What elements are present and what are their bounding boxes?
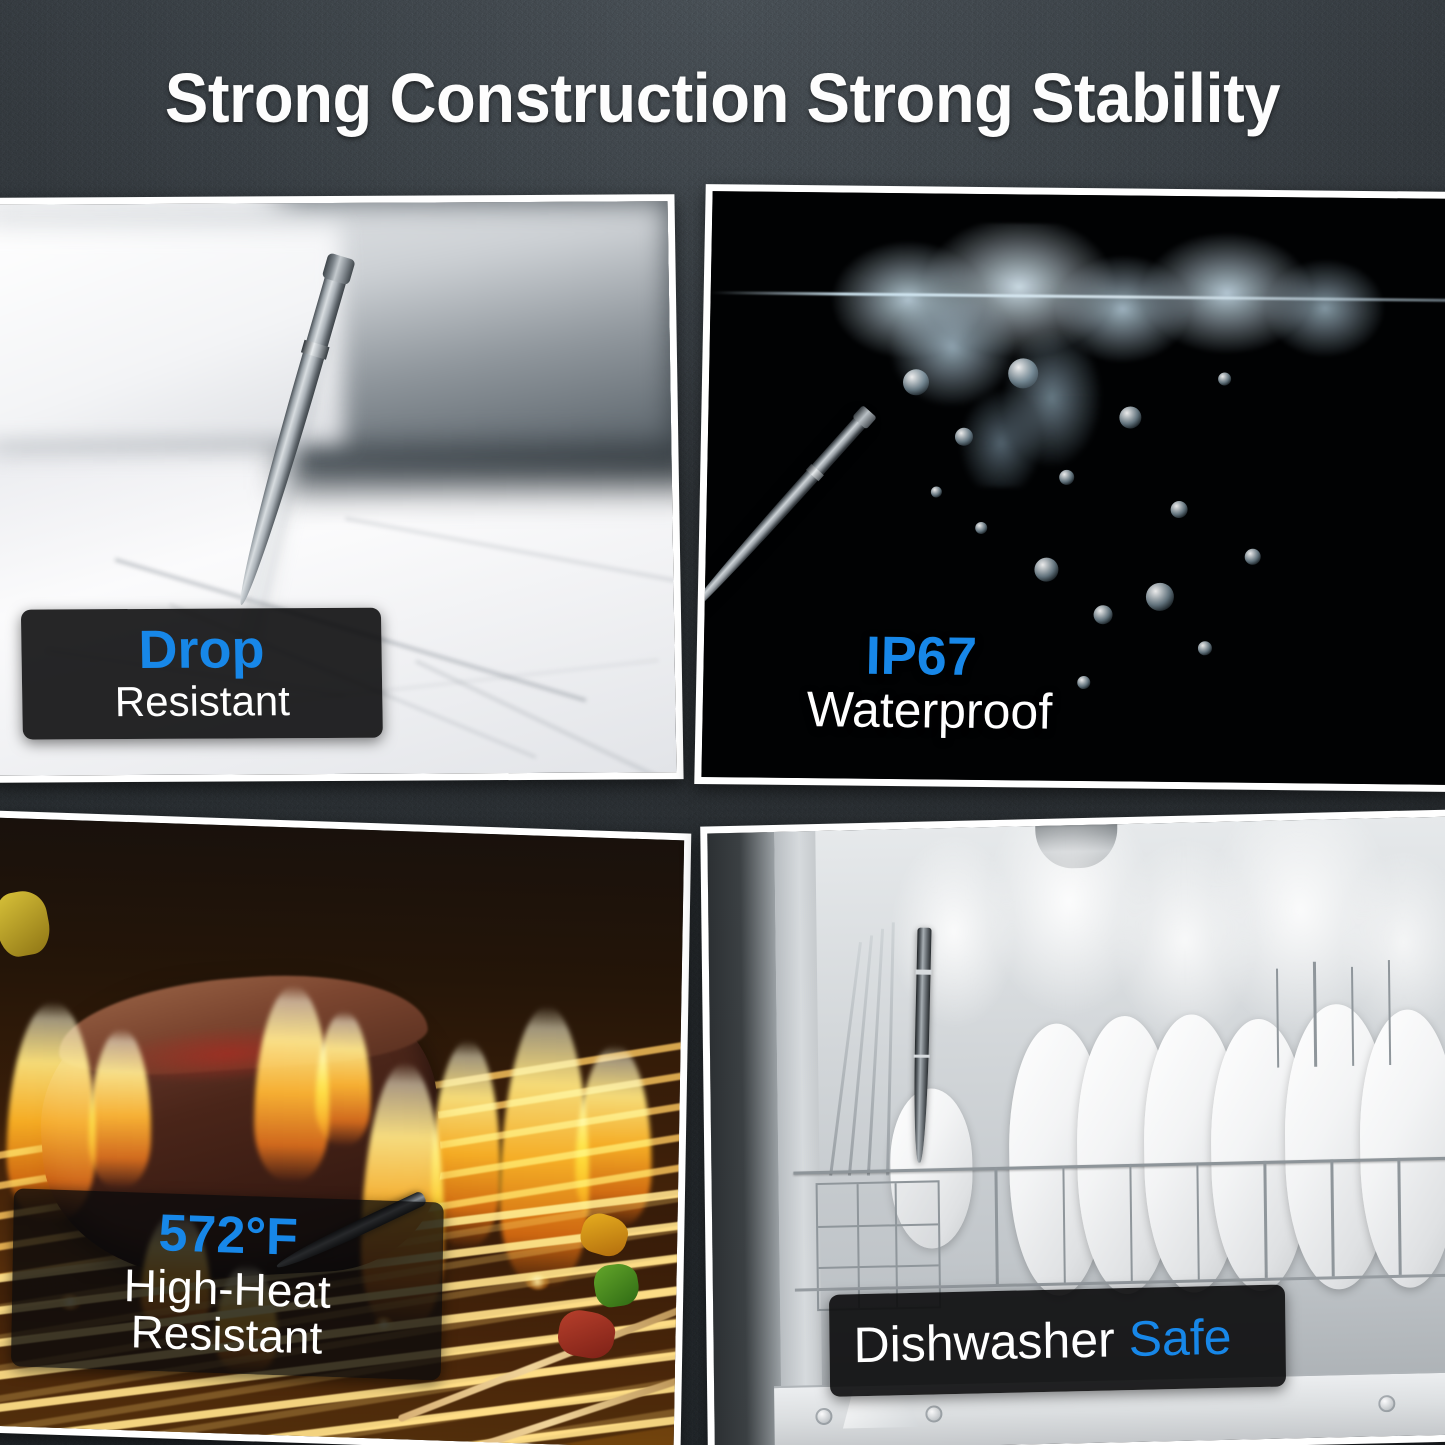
- basket-bar: [819, 1223, 938, 1228]
- bubble-icon: [1218, 372, 1231, 385]
- cutlery-basket: [816, 1181, 941, 1311]
- screw-icon: [815, 1408, 832, 1425]
- panel-drop-photo: Drop Resistant: [0, 201, 676, 775]
- badge-dishwasher-safe: Dishwasher Safe: [829, 1284, 1286, 1396]
- badge-dishwasher-text: Dishwasher Safe: [853, 1309, 1232, 1374]
- badge-drop-line1: Drop: [47, 622, 356, 678]
- badge-dishwasher-part2: Safe: [1128, 1309, 1232, 1367]
- screw-icon: [925, 1405, 942, 1422]
- bubble-icon: [1170, 501, 1187, 518]
- badge-drop-line2: Resistant: [48, 680, 357, 724]
- badge-high-heat-line1: 572°F: [39, 1203, 418, 1268]
- panel-high-heat-photo: 572°F High-Heat Resistant: [0, 818, 684, 1445]
- badge-high-heat-line2: High-Heat Resistant: [37, 1259, 416, 1364]
- probe-ring: [916, 970, 932, 975]
- screw-icon: [1378, 1395, 1395, 1412]
- panel-high-heat: 572°F High-Heat Resistant: [0, 810, 691, 1445]
- panel-drop-resistant: Drop Resistant: [0, 194, 684, 783]
- bubble-icon: [1244, 548, 1260, 564]
- probe-ring: [914, 1054, 930, 1057]
- page-title: Strong Construction Strong Stability: [51, 58, 1395, 138]
- badge-waterproof-line1: IP67: [807, 628, 1098, 685]
- badge-waterproof: IP67 Waterproof: [806, 628, 1098, 737]
- badge-dishwasher-part1: Dishwasher: [853, 1311, 1129, 1373]
- badge-waterproof-line2: Waterproof: [806, 684, 1097, 737]
- dishwasher-left-edge: [707, 832, 782, 1445]
- panel-waterproof: IP67 Waterproof: [694, 184, 1445, 792]
- panel-dishwasher-safe: Dishwasher Safe: [700, 809, 1445, 1445]
- basket-bar: [819, 1264, 938, 1269]
- badge-drop-resistant: Drop Resistant: [21, 608, 383, 740]
- ember: [525, 1273, 549, 1290]
- panel-waterproof-photo: IP67 Waterproof: [701, 191, 1445, 785]
- badge-high-heat: 572°F High-Heat Resistant: [11, 1188, 444, 1380]
- probe-ring: [806, 463, 824, 480]
- infographic-canvas: Strong Construction Strong Stability Dro…: [0, 0, 1445, 1445]
- panel-dishwasher-photo: Dishwasher Safe: [707, 817, 1445, 1445]
